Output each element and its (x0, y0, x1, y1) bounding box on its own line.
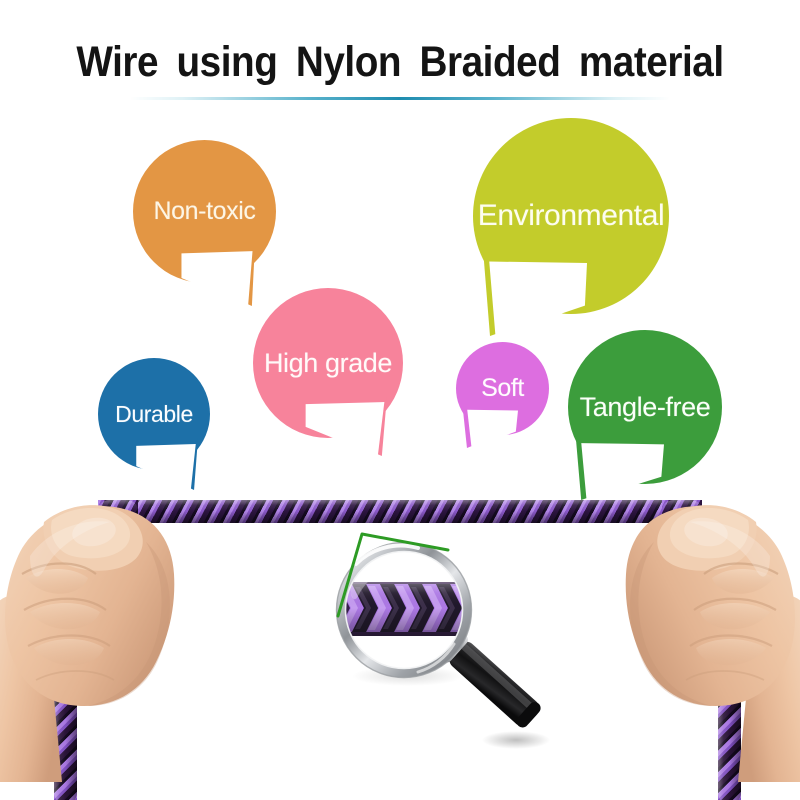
title-underline (130, 97, 670, 100)
feature-bubble-high-grade[interactable]: High grade (253, 288, 403, 438)
right-hand-gripping-cable (584, 482, 800, 782)
bubble-label: Durable (98, 358, 210, 470)
feature-bubble-non-toxic[interactable]: Non-toxic (133, 140, 276, 283)
bubble-label: High grade (253, 288, 403, 438)
feature-bubble-environmental[interactable]: Environmental (473, 118, 669, 314)
bubble-label: Environmental (473, 118, 669, 314)
feature-bubble-soft[interactable]: Soft (456, 342, 549, 435)
bubble-label: Non-toxic (133, 140, 276, 283)
bubble-label: Soft (456, 342, 549, 435)
feature-bubble-durable[interactable]: Durable (98, 358, 210, 470)
page-title: Wire using Nylon Braided material (40, 38, 760, 87)
left-hand-gripping-cable (0, 482, 216, 782)
bubble-label: Tangle-free (568, 330, 722, 484)
callout-lines (330, 528, 470, 643)
infographic-canvas: Wire using Nylon Braided material (0, 0, 800, 800)
feature-bubble-tangle-free[interactable]: Tangle-free (568, 330, 722, 484)
